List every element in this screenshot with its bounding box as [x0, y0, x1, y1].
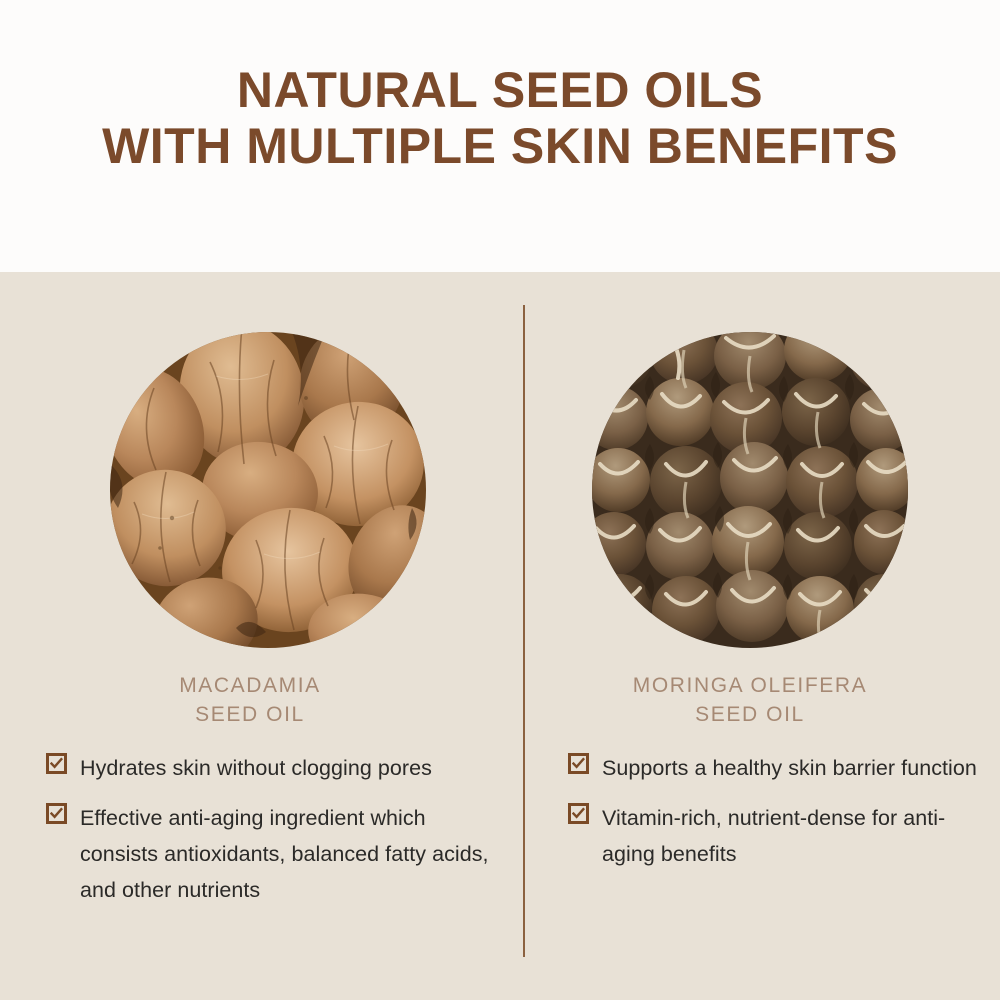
ingredient-label-moringa: MORINGA OLEIFERA SEED OIL: [500, 672, 1000, 730]
macadamia-photo-graphic: [110, 332, 426, 648]
ingredient-columns: MACADAMIA SEED OIL Hydrates skin without…: [0, 272, 1000, 1000]
ingredient-card-moringa: MORINGA OLEIFERA SEED OIL Supports a hea…: [500, 272, 1000, 1000]
ingredient-label-line-1: MORINGA OLEIFERA: [633, 674, 867, 697]
list-item: Hydrates skin without clogging pores: [46, 750, 506, 786]
benefit-text: Effective anti-aging ingredient which co…: [80, 800, 506, 908]
benefit-text: Supports a healthy skin barrier function: [602, 750, 977, 786]
page-title: NATURAL SEED OILS WITH MULTIPLE SKIN BEN…: [102, 62, 898, 174]
content-panel: MACADAMIA SEED OIL Hydrates skin without…: [0, 272, 1000, 1000]
list-item: Effective anti-aging ingredient which co…: [46, 800, 506, 908]
header-banner: NATURAL SEED OILS WITH MULTIPLE SKIN BEN…: [0, 0, 1000, 272]
benefit-text: Vitamin-rich, nutrient-dense for anti-ag…: [602, 800, 988, 872]
infographic-page: NATURAL SEED OILS WITH MULTIPLE SKIN BEN…: [0, 0, 1000, 1000]
title-line-2: WITH MULTIPLE SKIN BENEFITS: [102, 118, 898, 174]
checkbox-checked-icon: [46, 803, 67, 824]
benefits-list-macadamia: Hydrates skin without clogging pores Eff…: [46, 750, 506, 922]
list-item: Supports a healthy skin barrier function: [568, 750, 988, 786]
ingredient-label-line-2: SEED OIL: [500, 701, 1000, 730]
ingredient-card-macadamia: MACADAMIA SEED OIL Hydrates skin without…: [0, 272, 500, 1000]
benefits-list-moringa: Supports a healthy skin barrier function…: [568, 750, 988, 886]
ingredient-label-macadamia: MACADAMIA SEED OIL: [0, 672, 500, 730]
checkbox-checked-icon: [568, 803, 589, 824]
macadamia-nuts-photo: [110, 332, 426, 648]
moringa-oleifera-seeds-photo: [592, 332, 908, 648]
moringa-photo-graphic: [592, 332, 908, 648]
checkbox-checked-icon: [568, 753, 589, 774]
ingredient-label-line-2: SEED OIL: [0, 701, 500, 730]
checkbox-checked-icon: [46, 753, 67, 774]
benefit-text: Hydrates skin without clogging pores: [80, 750, 432, 786]
list-item: Vitamin-rich, nutrient-dense for anti-ag…: [568, 800, 988, 872]
title-line-1: NATURAL SEED OILS: [102, 62, 898, 118]
ingredient-label-line-1: MACADAMIA: [179, 674, 321, 697]
